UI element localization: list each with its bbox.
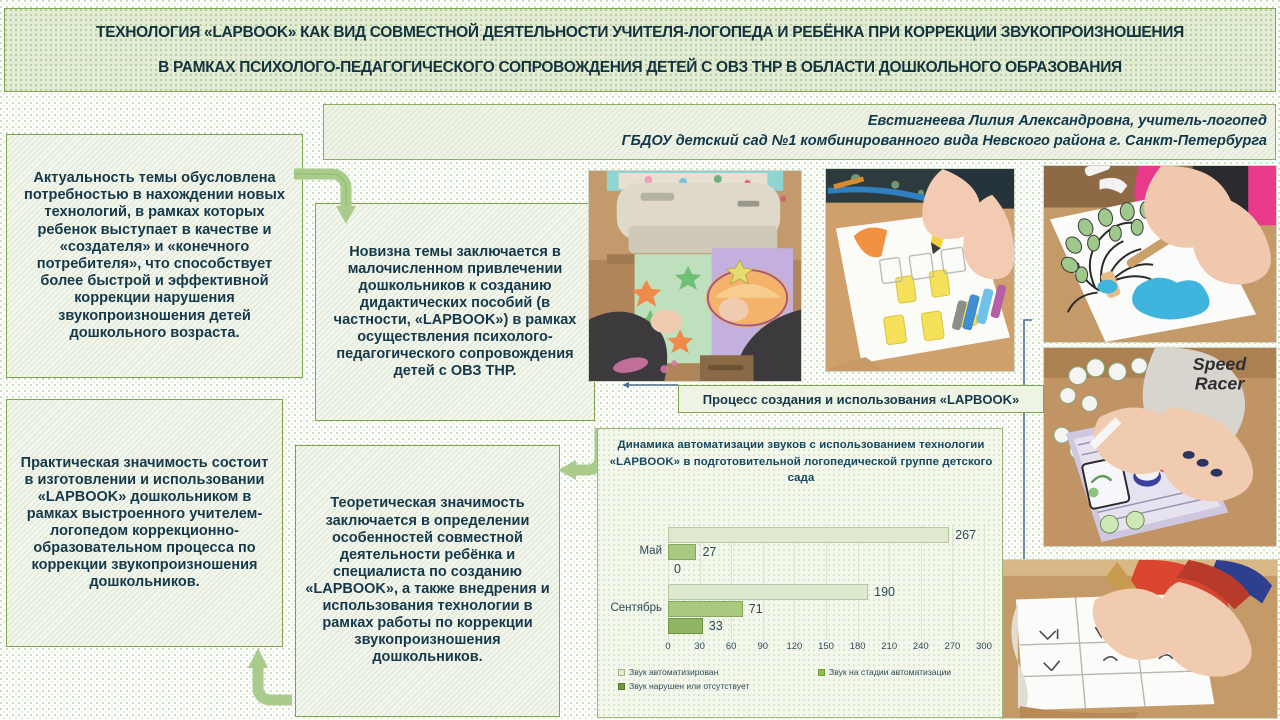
photos-caption-text: Процесс создания и использования «LAPBOO…: [703, 392, 1020, 407]
chart-legend-label: Звук на стадии автоматизации: [829, 667, 951, 677]
chart-x-tick: 150: [814, 641, 838, 652]
chart-x-tick: 120: [782, 641, 806, 652]
chart-category-label: Сентябрь: [610, 602, 662, 614]
card-novelty-title: Новизна темы: [349, 244, 456, 260]
chart-bar-value: 267: [955, 528, 976, 542]
card-novelty: Новизна темы заключается в малочисленном…: [315, 203, 595, 421]
legend-swatch-icon: [818, 669, 825, 676]
chart-bar: [668, 618, 703, 634]
card-novelty-body: заключается в малочисленном привлечении …: [334, 244, 577, 380]
chart-x-tick: 90: [751, 641, 775, 652]
card-theoretical-body: заключается в определении особенностей с…: [305, 513, 549, 666]
chart-x-tick: 0: [656, 641, 680, 652]
card-practical-significance: Практическая значимость состоит в изгото…: [6, 399, 283, 647]
card-practical-title: Практическая значимость: [21, 455, 212, 471]
title-line-1: ТЕХНОЛОГИЯ «LAPBOOK» КАК ВИД СОВМЕСТНОЙ …: [20, 24, 1260, 41]
chart-bar: [668, 544, 696, 560]
chart-bar: [668, 584, 868, 600]
author-name: Евстигнеева Лилия Александровна, учитель…: [868, 112, 1267, 132]
photos-caption: Процесс создания и использования «LAPBOO…: [678, 385, 1044, 413]
arrow-theoretical-to-practical: [232, 642, 302, 712]
card-relevance-body: обусловлена потребностью в нахождении но…: [24, 170, 285, 341]
author-organization: ГБДОУ детский сад №1 комбинированного ви…: [622, 132, 1267, 152]
photo-lapbook-use: Speed Racer: [1043, 347, 1277, 547]
author-block: Евстигнеева Лилия Александровна, учитель…: [323, 104, 1276, 160]
photo-writing: [999, 559, 1278, 719]
chart-bar-value: 71: [749, 602, 763, 616]
card-practical-body: состоит в изготовлении и использовании «…: [25, 455, 269, 591]
photo-coloring: [825, 168, 1015, 372]
chart-bar-value: 0: [674, 562, 681, 576]
chart-x-tick: 300: [972, 641, 996, 652]
chart-panel: Динамика автоматизации звуков с использо…: [597, 428, 1003, 718]
chart-bar: [668, 527, 949, 543]
chart-x-tick: 270: [940, 641, 964, 652]
chart-legend-item: Звук автоматизирован: [618, 667, 718, 677]
chart-x-tick: 180: [846, 641, 870, 652]
svg-text:Racer: Racer: [1195, 374, 1246, 394]
chart-legend-item: Звук на стадии автоматизации: [818, 667, 951, 677]
chart-gridline: [984, 525, 985, 640]
photo-laminator: [588, 170, 802, 382]
chart-x-tick: 60: [719, 641, 743, 652]
chart-title: Динамика автоматизации звуков с использо…: [606, 437, 996, 487]
arrow-relevance-to-novelty: [292, 162, 358, 228]
chart-legend-label: Звук нарушен или отсутствует: [629, 681, 749, 691]
chart-bar-value: 27: [702, 545, 716, 559]
card-theoretical-significance: Теоретическая значимость заключается в о…: [295, 445, 560, 717]
card-theoretical-title: Теоретическая значимость: [330, 495, 524, 511]
title-line-2: В РАМКАХ ПСИХОЛОГО-ПЕДАГОГИЧЕСКОГО СОПРО…: [20, 59, 1260, 76]
chart-x-axis: 0306090120150180210240270300: [598, 641, 1004, 657]
chart-plot-area: Май267270Сентябрь1907133: [598, 525, 1004, 640]
photo-tree: [1043, 165, 1277, 343]
chart-legend-item: Звук нарушен или отсутствует: [618, 681, 749, 691]
chart-x-tick: 210: [877, 641, 901, 652]
chart-legend-label: Звук автоматизирован: [629, 667, 718, 677]
chart-x-tick: 30: [688, 641, 712, 652]
chart-bar: [668, 601, 743, 617]
chart-category-label: Май: [639, 545, 662, 557]
svg-text:Speed: Speed: [1193, 354, 1248, 374]
card-relevance-title: Актуальность темы: [33, 170, 181, 186]
chart-x-tick: 240: [909, 641, 933, 652]
card-relevance: Актуальность темы обусловлена потребност…: [6, 134, 303, 378]
slide-title-banner: ТЕХНОЛОГИЯ «LAPBOOK» КАК ВИД СОВМЕСТНОЙ …: [4, 8, 1276, 92]
chart-bar-value: 190: [874, 585, 895, 599]
chart-bar-value: 33: [709, 619, 723, 633]
legend-swatch-icon: [618, 669, 625, 676]
legend-swatch-icon: [618, 683, 625, 690]
chart-gridline: [952, 525, 953, 640]
